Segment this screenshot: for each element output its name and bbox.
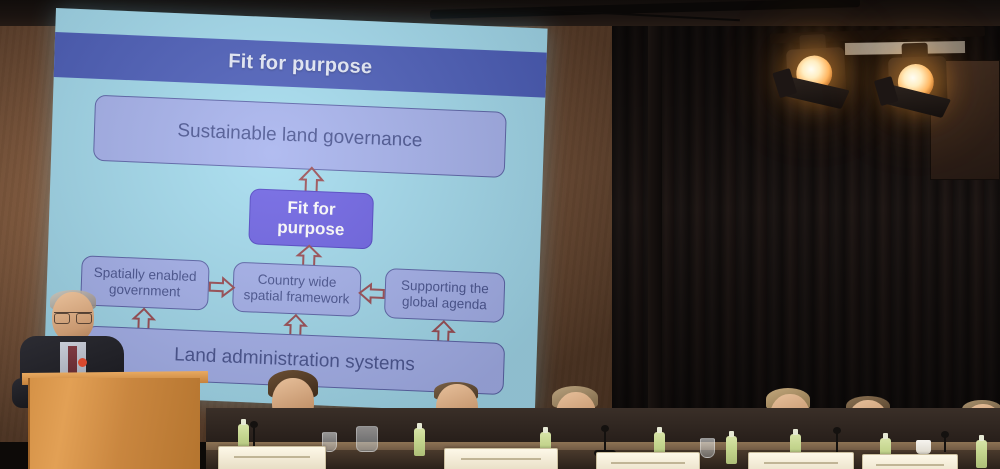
node-label: Sustainable land governance xyxy=(177,120,423,152)
microphone-icon xyxy=(944,436,946,452)
diagram-node-country-wide-spatial-framework: Country wide spatial framework xyxy=(232,262,362,317)
diagram-node-supporting-the-global-agenda: Supporting the global agenda xyxy=(384,268,506,323)
podium xyxy=(28,378,200,469)
drinking-glass xyxy=(700,438,715,458)
arrow-left-to-middle xyxy=(209,277,236,298)
arrow-right-to-middle xyxy=(358,283,385,304)
lapel-pin-icon xyxy=(78,358,87,367)
node-label-line2: spatial framework xyxy=(243,287,349,307)
diagram-node-fit-for-purpose: Fit for purpose xyxy=(248,188,374,249)
arrow-center-to-top xyxy=(298,166,325,193)
name-card xyxy=(748,452,854,469)
water-bottle xyxy=(976,440,987,468)
node-label-line2: global agenda xyxy=(400,294,488,313)
name-card xyxy=(862,454,958,469)
water-bottle xyxy=(726,436,737,464)
glasses-icon xyxy=(54,312,92,321)
slide-title: Fit for purpose xyxy=(228,50,373,79)
diagram-node-sustainable-land-governance: Sustainable land governance xyxy=(93,95,507,178)
wall-column-divider xyxy=(648,20,662,444)
microphone-icon xyxy=(836,432,838,452)
microphone-icon xyxy=(604,430,606,452)
node-label-line2: purpose xyxy=(277,217,345,239)
name-card xyxy=(596,452,700,469)
water-pitcher xyxy=(356,426,378,452)
conference-room-scene: Fit for purpose Sustainable land governa… xyxy=(0,0,1000,469)
name-card xyxy=(218,446,326,469)
slide-title-bar: Fit for purpose xyxy=(54,32,547,98)
coffee-cup xyxy=(916,440,931,454)
name-card xyxy=(444,448,558,469)
water-bottle xyxy=(414,428,425,456)
